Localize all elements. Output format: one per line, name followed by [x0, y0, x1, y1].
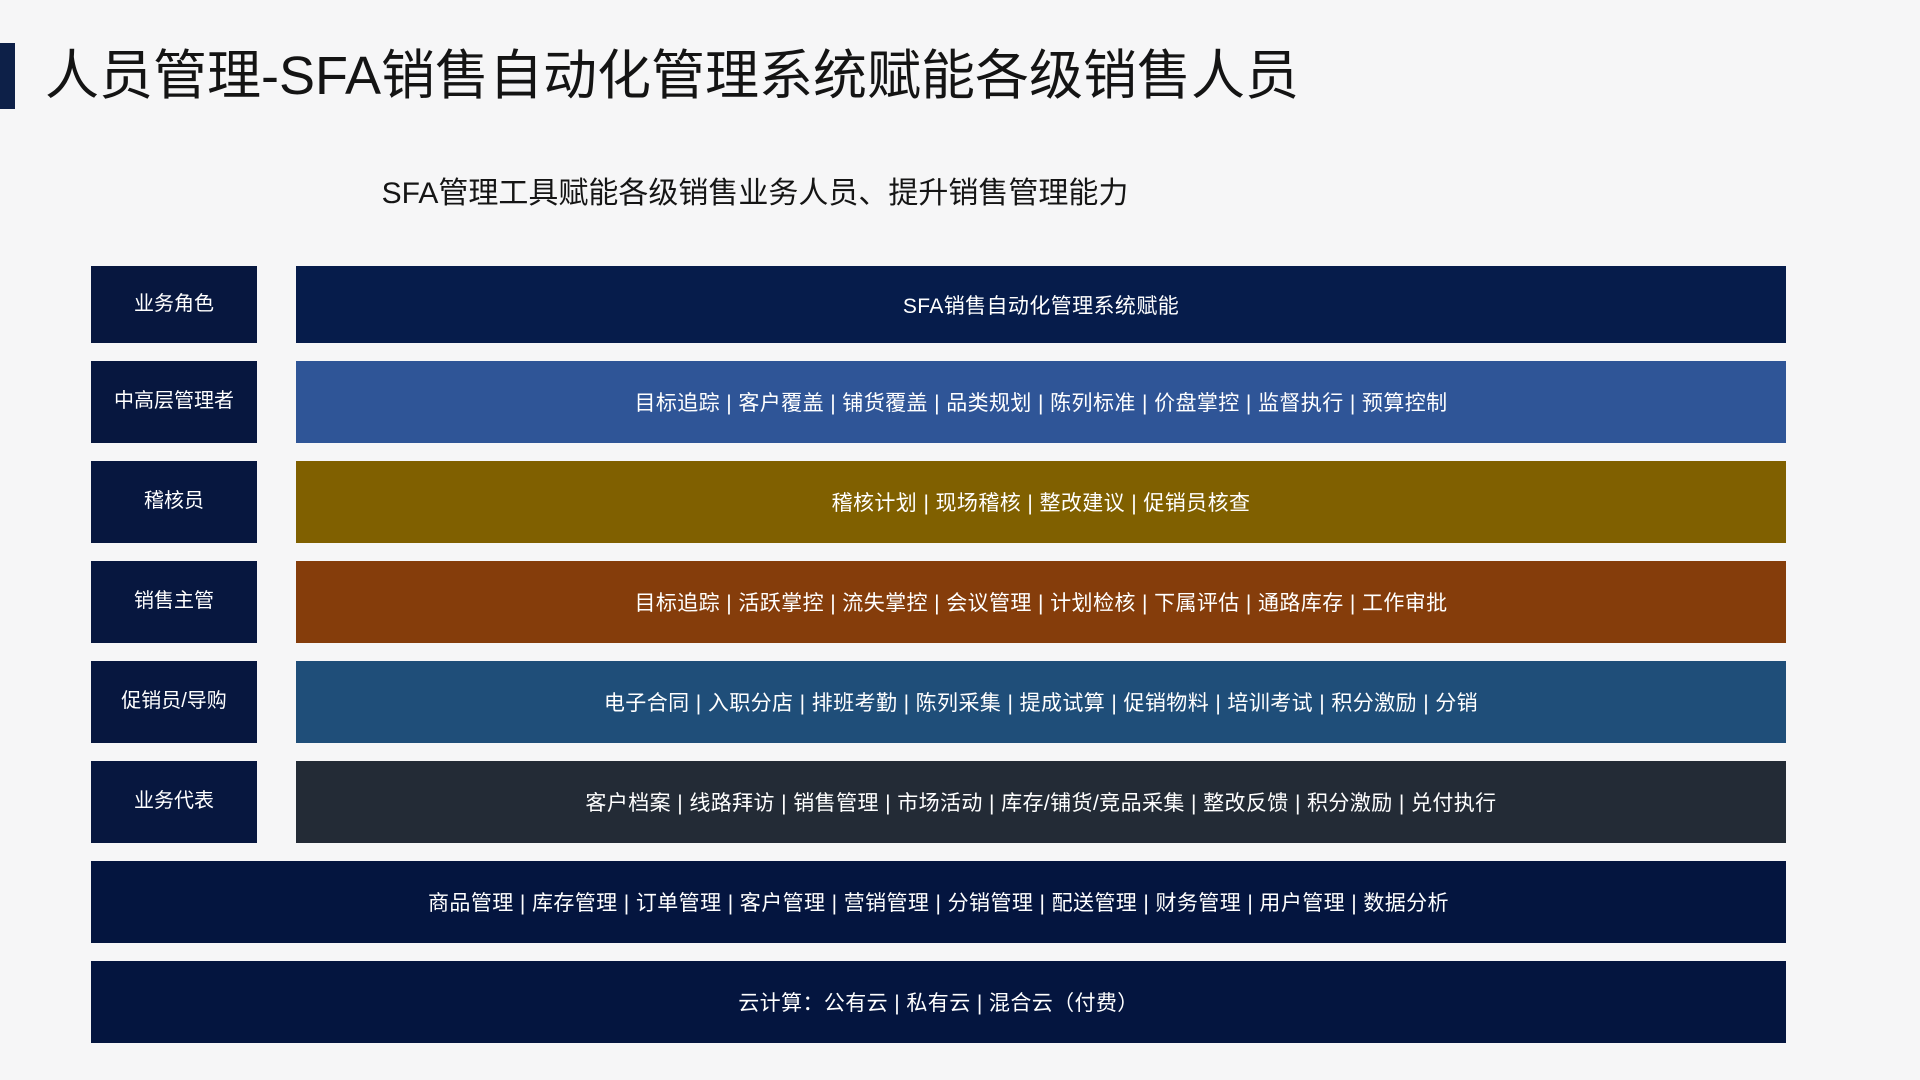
platform-bar[interactable]: 云计算：公有云 | 私有云 | 混合云（付费）	[91, 961, 1786, 1043]
matrix-row: 业务代表客户档案 | 线路拜访 | 销售管理 | 市场活动 | 库存/铺货/竞品…	[91, 761, 1786, 843]
page-title: 人员管理-SFA销售自动化管理系统赋能各级销售人员	[45, 48, 1299, 105]
role-capability-matrix: 业务角色SFA销售自动化管理系统赋能中高层管理者目标追踪 | 客户覆盖 | 铺货…	[91, 266, 1786, 1061]
slide-canvas: 人员管理-SFA销售自动化管理系统赋能各级销售人员 SFA管理工具赋能各级销售业…	[0, 0, 1920, 1080]
capability-bar[interactable]: 客户档案 | 线路拜访 | 销售管理 | 市场活动 | 库存/铺货/竞品采集 |…	[296, 761, 1786, 843]
role-label[interactable]: 稽核员	[91, 461, 257, 543]
role-label[interactable]: 业务代表	[91, 761, 257, 843]
matrix-row: 业务角色SFA销售自动化管理系统赋能	[91, 266, 1786, 343]
role-label[interactable]: 促销员/导购	[91, 661, 257, 743]
capability-bar[interactable]: 目标追踪 | 客户覆盖 | 铺货覆盖 | 品类规划 | 陈列标准 | 价盘掌控 …	[296, 361, 1786, 443]
title-accent-bar	[0, 43, 15, 109]
matrix-row: 中高层管理者目标追踪 | 客户覆盖 | 铺货覆盖 | 品类规划 | 陈列标准 |…	[91, 361, 1786, 443]
column-gap	[257, 266, 296, 343]
column-gap	[257, 361, 296, 443]
capability-bar[interactable]: 稽核计划 | 现场稽核 | 整改建议 | 促销员核查	[296, 461, 1786, 543]
role-label[interactable]: 中高层管理者	[91, 361, 257, 443]
matrix-row: 促销员/导购电子合同 | 入职分店 | 排班考勤 | 陈列采集 | 提成试算 |…	[91, 661, 1786, 743]
matrix-row: 销售主管目标追踪 | 活跃掌控 | 流失掌控 | 会议管理 | 计划检核 | 下…	[91, 561, 1786, 643]
capability-bar[interactable]: 电子合同 | 入职分店 | 排班考勤 | 陈列采集 | 提成试算 | 促销物料 …	[296, 661, 1786, 743]
slide-subtitle: SFA管理工具赋能各级销售业务人员、提升销售管理能力	[0, 168, 1920, 212]
capability-bar[interactable]: 目标追踪 | 活跃掌控 | 流失掌控 | 会议管理 | 计划检核 | 下属评估 …	[296, 561, 1786, 643]
role-label[interactable]: 业务角色	[91, 266, 257, 343]
column-gap	[257, 461, 296, 543]
column-gap	[257, 661, 296, 743]
capability-bar[interactable]: SFA销售自动化管理系统赋能	[296, 266, 1786, 343]
role-label[interactable]: 销售主管	[91, 561, 257, 643]
platform-bar[interactable]: 商品管理 | 库存管理 | 订单管理 | 客户管理 | 营销管理 | 分销管理 …	[91, 861, 1786, 943]
slide-header: 人员管理-SFA销售自动化管理系统赋能各级销售人员	[0, 33, 1400, 119]
matrix-full-row: 云计算：公有云 | 私有云 | 混合云（付费）	[91, 961, 1786, 1043]
column-gap	[257, 561, 296, 643]
matrix-row: 稽核员稽核计划 | 现场稽核 | 整改建议 | 促销员核查	[91, 461, 1786, 543]
matrix-full-row: 商品管理 | 库存管理 | 订单管理 | 客户管理 | 营销管理 | 分销管理 …	[91, 861, 1786, 943]
column-gap	[257, 761, 296, 843]
